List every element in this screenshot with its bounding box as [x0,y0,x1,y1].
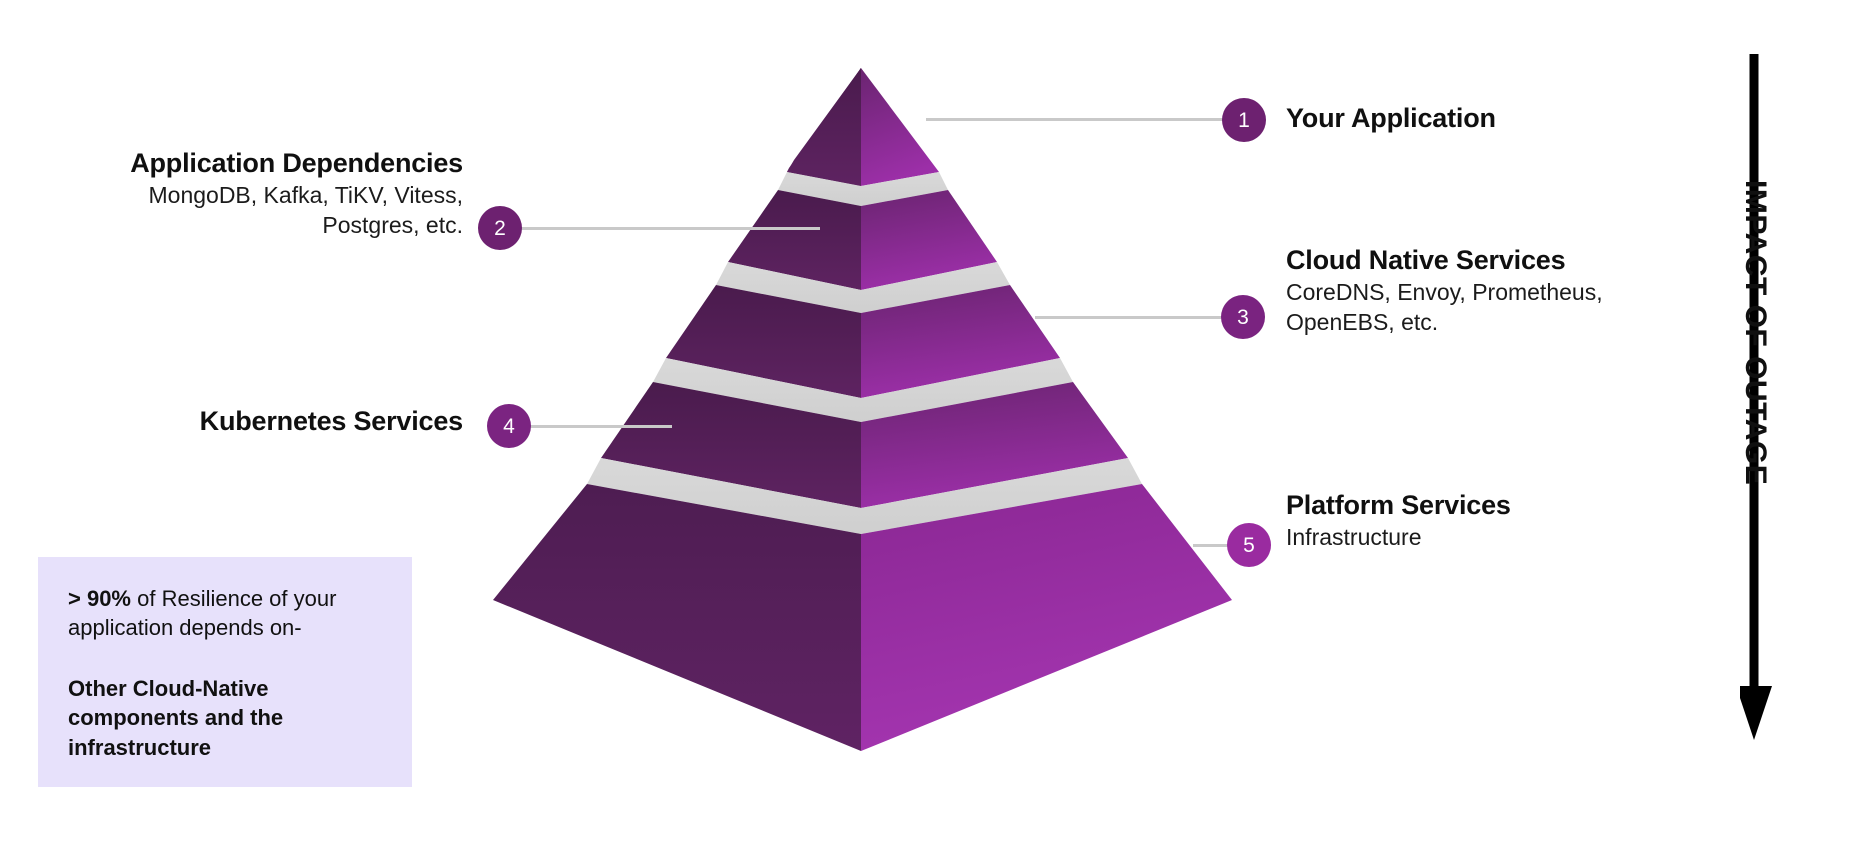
pyramid-tier-5-left-face [493,484,861,751]
tier-badge-5-number: 5 [1243,535,1255,556]
tier-label-5-subtitle: Infrastructure [1286,522,1511,553]
tier-label-2-subtitle-line1: MongoDB, Kafka, TiKV, Vitess, [28,180,463,211]
leader-line-1 [926,118,1231,121]
tier-badge-3-number: 3 [1237,307,1249,328]
impact-axis-label: IMPACT OF OUTAGE [1738,180,1772,620]
pyramid-band-2 [716,262,1010,313]
tier-label-4-title: Kubernetes Services [28,406,463,438]
pyramid-band-1 [778,172,948,206]
pyramid-tier-1-left-real [787,68,861,186]
down-arrow-icon [1740,686,1772,740]
tier-label-5: Platform Services Infrastructure [1286,490,1511,552]
pyramid-band-4 [587,458,1142,534]
tier-label-2-subtitle-line2: Postgres, etc. [28,210,463,241]
pyramid-tier-1-right-face [861,68,939,186]
tier-label-1: Your Application [1286,103,1496,135]
tier-badge-4-number: 4 [503,416,515,437]
pyramid-tier-5-right-face [861,484,1232,751]
tier-badge-4[interactable]: 4 [487,404,531,448]
note-line-1-bold: > 90% [68,586,131,611]
pyramid-tier-1-left [789,68,861,186]
tier-label-3-subtitle-line2: OpenEBS, etc. [1286,307,1603,338]
tier-label-5-title: Platform Services [1286,490,1511,522]
diagram-canvas: 1 2 3 4 5 Your Application Application D… [0,0,1858,846]
resilience-note-box: > 90% of Resilience of your application … [38,557,412,787]
note-line-1: > 90% of Resilience of your application … [68,585,382,642]
tier-badge-3[interactable]: 3 [1221,295,1265,339]
tier-label-1-title: Your Application [1286,103,1496,135]
leader-line-4 [512,425,672,428]
pyramid-tier-1-left-plane [789,68,861,186]
tier-label-2-title: Application Dependencies [28,148,463,180]
pyramid-tier-1-left-face-full [789,68,861,186]
tier-label-4: Kubernetes Services [28,406,463,438]
tier-label-3: Cloud Native Services CoreDNS, Envoy, Pr… [1286,245,1603,338]
pyramid-tier-4-left-face [601,382,861,508]
tier-label-2: Application Dependencies MongoDB, Kafka,… [28,148,463,241]
pyramid-tier-2-left-face [728,190,861,290]
leader-line-2 [510,227,820,230]
tier-badge-2-number: 2 [494,218,506,239]
pyramid-tier-1-silhouette-left [787,68,861,186]
tier-badge-2[interactable]: 2 [478,206,522,250]
tier-badge-1[interactable]: 1 [1222,98,1266,142]
tier-label-3-title: Cloud Native Services [1286,245,1603,277]
pyramid-tier-4-right-face [861,382,1128,508]
pyramid-band-3 [653,358,1073,422]
pyramid-tier-2-right-face [861,190,997,290]
pyramid-tier-3-right-face [861,285,1060,398]
tier-label-3-subtitle-line1: CoreDNS, Envoy, Prometheus, [1286,277,1603,308]
leader-line-3 [1035,316,1230,319]
tier-badge-1-number: 1 [1238,110,1250,131]
pyramid-tier-3-left-face [666,285,861,398]
note-line-2: Other Cloud-Native components and the in… [68,674,382,762]
pyramid-tier-1-left-face [795,68,861,186]
tier-badge-5[interactable]: 5 [1227,523,1271,567]
